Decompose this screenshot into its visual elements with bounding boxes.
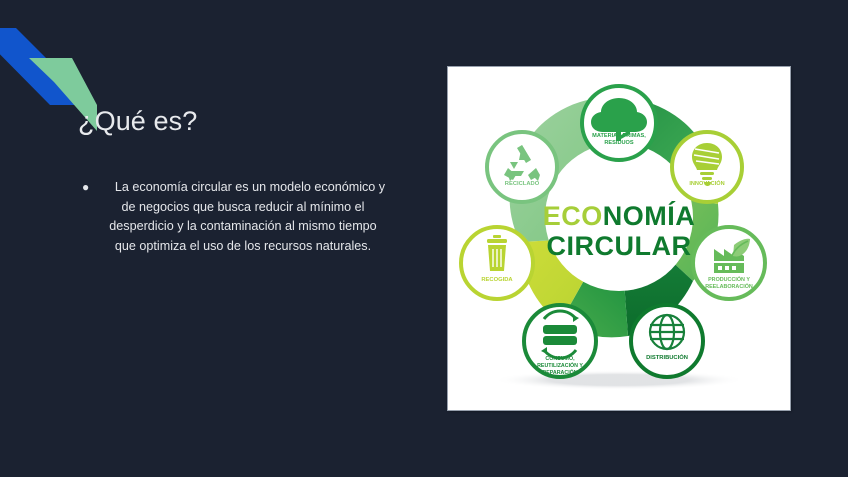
trash-bin-icon xyxy=(487,235,507,271)
blue-parallelogram-icon xyxy=(0,28,93,105)
list-item: ● La economía circular es un modelo econ… xyxy=(82,178,388,256)
node-innovacion: INNOVACIÓN xyxy=(672,132,742,202)
node-materias-primas: MATERIAS PRIMAS, RESIDUOS xyxy=(582,86,656,160)
node-label-consumo-line2: REUTILIZACIÓN Y xyxy=(537,361,583,369)
body-paragraph: La economía circular es un modelo económ… xyxy=(98,178,388,256)
slide-canvas: ¿Qué es? ● La economía circular es un mo… xyxy=(0,0,848,477)
node-label-materias-primas-line2: RESIDUOS xyxy=(604,140,633,146)
node-label-consumo-line3: REPARACIÓN xyxy=(542,368,577,376)
node-label-produccion-line2: REELABORACIÓN xyxy=(705,282,753,290)
node-label-materias-primas-line1: MATERIAS PRIMAS, xyxy=(592,133,646,139)
node-label-innovacion: INNOVACIÓN xyxy=(689,179,724,187)
node-distribucion: DISTRIBUCIÓN xyxy=(631,305,703,377)
diagram-center-title: ECONOMÍA CIRCULAR xyxy=(543,200,696,261)
node-recogida: RECOGIDA xyxy=(461,227,533,299)
page-title: ¿Qué es? xyxy=(78,107,197,137)
node-label-distribucion: DISTRIBUCIÓN xyxy=(646,353,688,361)
node-label-recogida: RECOGIDA xyxy=(481,277,513,283)
center-title-circular: CIRCULAR xyxy=(547,231,692,261)
circular-economy-diagram: ECONOMÍA CIRCULAR MATERIAS PRIMAS, RESID… xyxy=(448,67,790,410)
center-title-eco: ECO xyxy=(543,201,603,231)
node-produccion: PRODUCCIÓN Y REELABORACIÓN xyxy=(693,227,765,299)
node-reciclado: RECICLADO xyxy=(487,132,557,202)
bullet-icon: ● xyxy=(82,178,98,198)
node-label-reciclado: RECICLADO xyxy=(505,181,540,187)
svg-text:ECONOMÍA: ECONOMÍA xyxy=(543,200,696,231)
body-content: ● La economía circular es un modelo econ… xyxy=(82,178,388,256)
node-label-produccion-line1: PRODUCCIÓN Y xyxy=(708,275,750,283)
node-consumo: CONSUMO, REUTILIZACIÓN Y REPARACIÓN xyxy=(524,305,596,377)
circular-economy-image: ECONOMÍA CIRCULAR MATERIAS PRIMAS, RESID… xyxy=(448,67,790,410)
node-label-consumo-line1: CONSUMO, xyxy=(545,356,575,362)
center-title-nomia: NOMÍA xyxy=(603,200,696,231)
